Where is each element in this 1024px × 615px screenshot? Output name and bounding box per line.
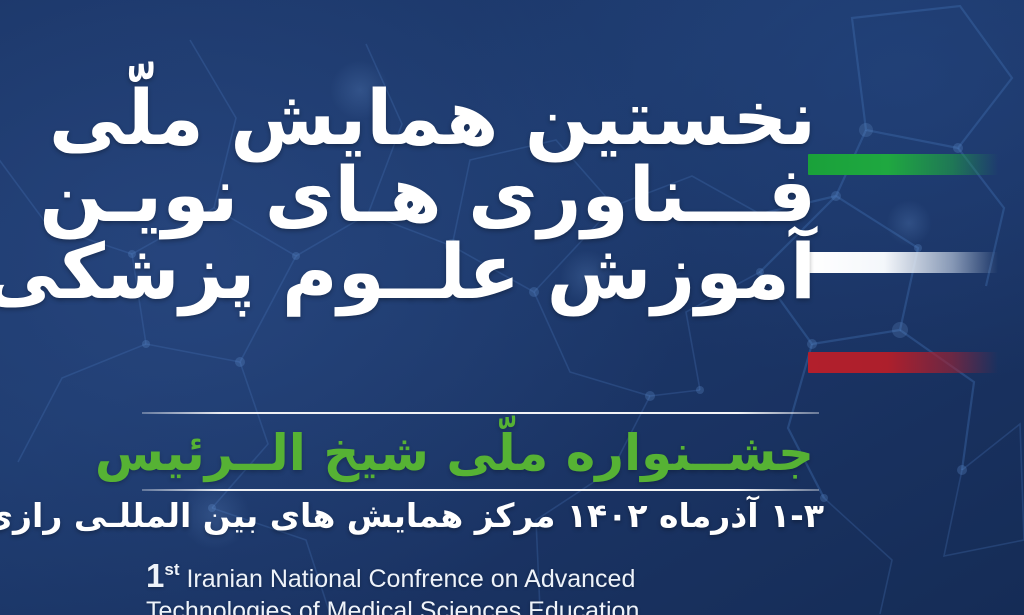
conference-poster: نخستین همایش ملّی فـــناوری هـای نویـن آ…	[0, 0, 1024, 615]
ordinal-number: 1st	[146, 557, 179, 594]
ordinal-digit: 1	[146, 557, 164, 594]
ordinal-suffix: st	[164, 560, 179, 579]
poster-title: نخستین همایش ملّی فـــناوری هـای نویـن آ…	[140, 78, 816, 311]
festival-title: جشــنواره ملّی شیخ الــرئیس	[150, 422, 814, 485]
date-and-venue: ۱-۳ آذرماه ۱۴۰۲ مرکز همایش های بین الملل…	[148, 496, 824, 535]
divider-top	[142, 412, 819, 414]
english-subtitle: 1st Iranian National Confrence on Advanc…	[146, 556, 824, 615]
english-line-2: Technologies of Medical Sciences Educati…	[146, 596, 824, 615]
english-line-1: Iranian National Confrence on Advanced	[186, 565, 635, 593]
divider-bottom	[142, 489, 819, 491]
title-line-2: فـــناوری هـای نویـن	[140, 155, 816, 234]
title-line-3: آموزش علــوم پزشکی	[140, 232, 816, 311]
title-line-1: نخستین همایش ملّی	[140, 78, 816, 157]
